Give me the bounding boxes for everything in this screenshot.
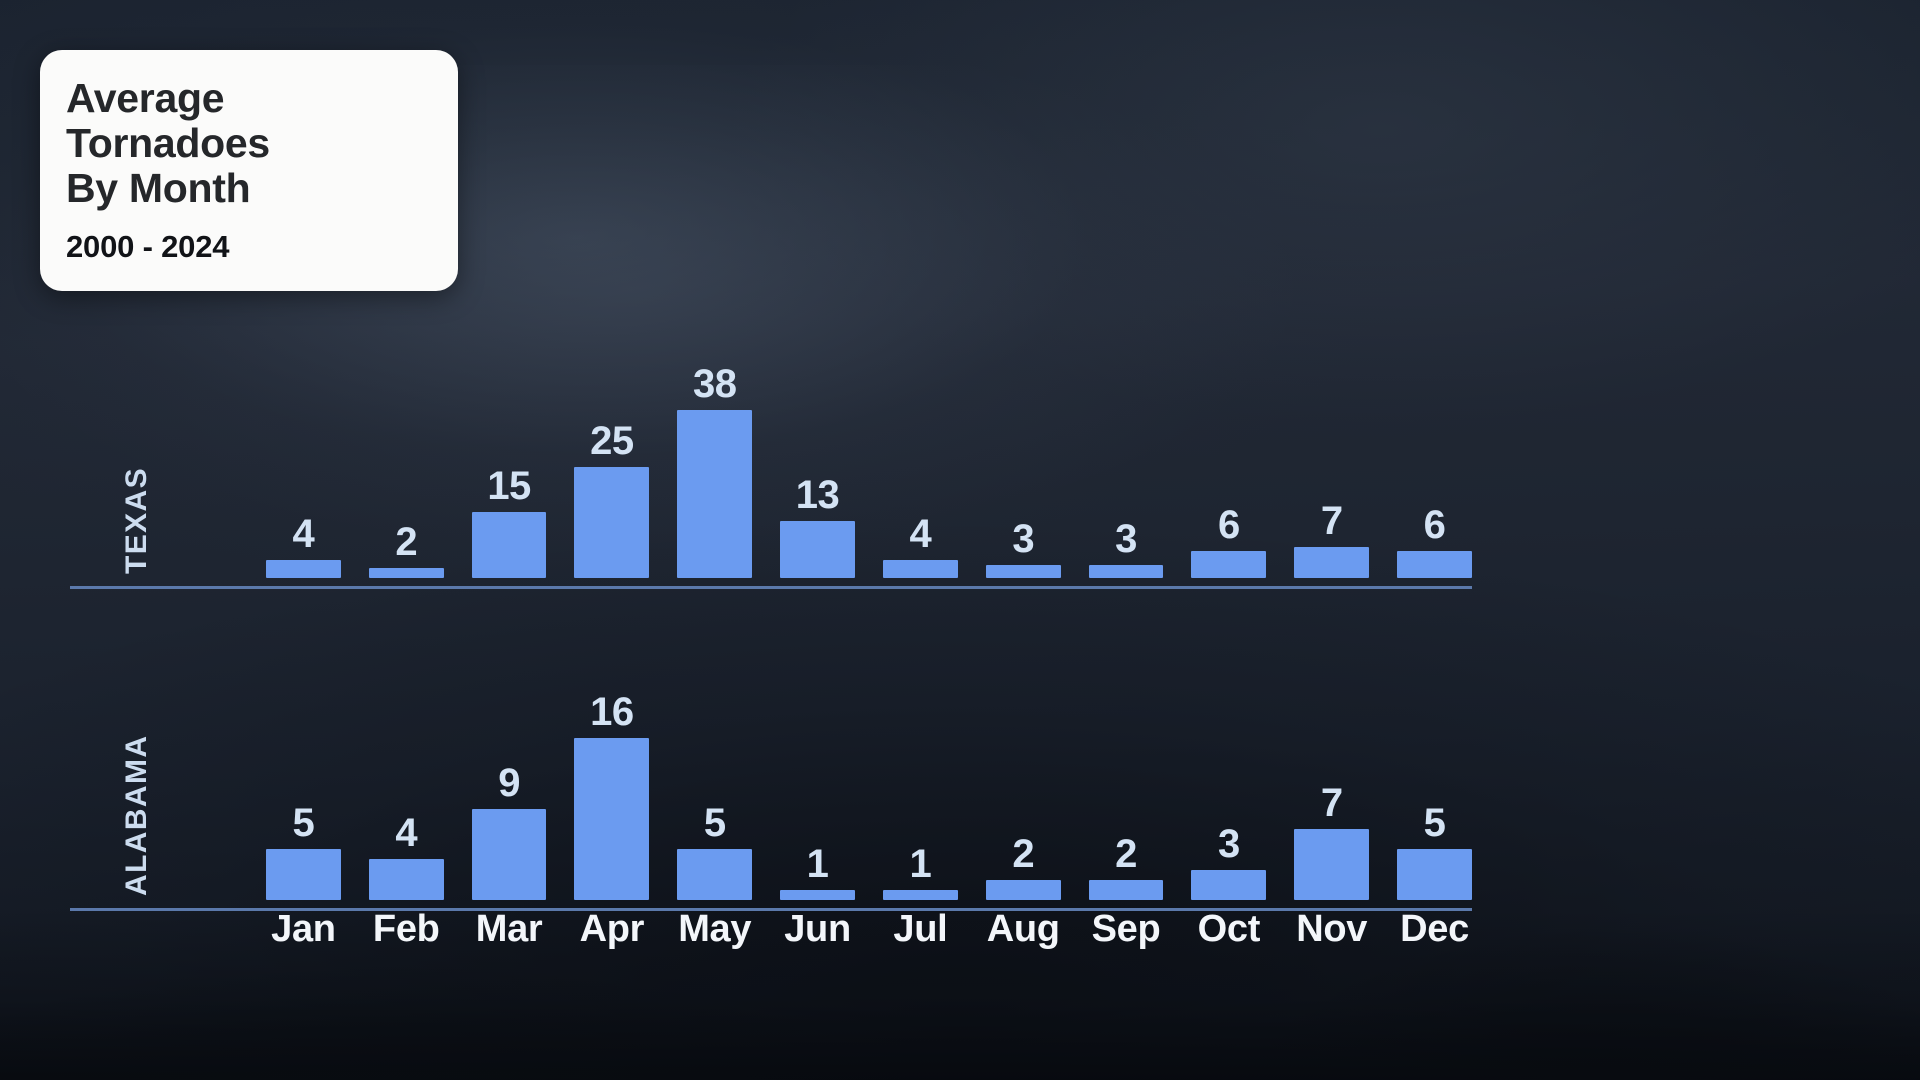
bar-rect [677,849,752,900]
bar-value-label: 5 [677,803,752,843]
bar-rect [883,560,958,578]
bar-feb-alabama[interactable]: 4 [369,598,444,900]
bar-rect [1294,547,1369,578]
month-label-feb: Feb [369,908,444,951]
bar-value-label: 3 [986,519,1061,559]
month-label-oct: Oct [1191,908,1266,951]
bar-rect [574,738,649,900]
bar-value-label: 5 [1397,803,1472,843]
bar-value-label: 15 [472,466,547,506]
bar-value-label: 38 [677,364,752,404]
bar-value-label: 13 [780,475,855,515]
bar-rect [369,859,444,900]
month-label-jun: Jun [780,908,855,951]
bar-mar-texas[interactable]: 15 [472,282,547,578]
bar-value-label: 2 [1089,834,1164,874]
bar-value-label: 5 [266,803,341,843]
bar-rect [1397,849,1472,900]
bar-rect [1089,565,1164,578]
bar-jun-alabama[interactable]: 1 [780,598,855,900]
bar-value-label: 4 [266,514,341,554]
page-title: Average Tornadoes By Month [66,76,428,211]
month-axis: JanFebMarAprMayJunJulAugSepOctNovDec [266,908,1472,951]
bar-rect [1191,870,1266,900]
bar-value-label: 2 [369,522,444,562]
bar-value-label: 3 [1089,519,1164,559]
bar-rect [1089,880,1164,900]
bar-value-label: 1 [780,844,855,884]
bar-dec-alabama[interactable]: 5 [1397,598,1472,900]
bar-dec-texas[interactable]: 6 [1397,282,1472,578]
month-label-nov: Nov [1294,908,1369,951]
month-label-jan: Jan [266,908,341,951]
bar-sep-alabama[interactable]: 2 [1089,598,1164,900]
bar-may-texas[interactable]: 38 [677,282,752,578]
month-label-sep: Sep [1089,908,1164,951]
bar-rect [472,512,547,578]
bar-value-label: 6 [1191,505,1266,545]
bar-oct-alabama[interactable]: 3 [1191,598,1266,900]
bar-jul-texas[interactable]: 4 [883,282,958,578]
title-subtitle: 2000 - 2024 [66,229,428,265]
bar-rect [883,890,958,900]
bar-value-label: 25 [574,421,649,461]
bar-rect [472,809,547,900]
bar-value-label: 7 [1294,501,1369,541]
bar-rect [986,880,1061,900]
bar-mar-alabama[interactable]: 9 [472,598,547,900]
bar-oct-texas[interactable]: 6 [1191,282,1266,578]
bar-jul-alabama[interactable]: 1 [883,598,958,900]
bars-texas: 4215253813433676 [266,282,1472,578]
bar-rect [1397,551,1472,578]
bar-aug-alabama[interactable]: 2 [986,598,1061,900]
bar-rect [1294,829,1369,900]
row-label-texas: TEXAS [120,467,154,574]
bar-apr-texas[interactable]: 25 [574,282,649,578]
bar-rect [266,560,341,578]
bar-value-label: 4 [883,514,958,554]
bar-rect [1191,551,1266,578]
bar-value-label: 2 [986,834,1061,874]
bar-rect [574,467,649,578]
bar-nov-alabama[interactable]: 7 [1294,598,1369,900]
bar-jan-alabama[interactable]: 5 [266,598,341,900]
month-label-may: May [677,908,752,951]
bar-nov-texas[interactable]: 7 [1294,282,1369,578]
bar-feb-texas[interactable]: 2 [369,282,444,578]
chart-row-texas: TEXAS 4215253813433676 [168,282,1472,578]
bar-rect [986,565,1061,578]
bar-may-alabama[interactable]: 5 [677,598,752,900]
bar-rect [677,410,752,578]
bar-rect [780,521,855,578]
bar-value-label: 4 [369,813,444,853]
bar-jun-texas[interactable]: 13 [780,282,855,578]
bars-alabama: 5491651122375 [266,598,1472,900]
row-label-alabama: ALABAMA [120,735,154,896]
month-label-mar: Mar [472,908,547,951]
bar-value-label: 1 [883,844,958,884]
title-card: Average Tornadoes By Month 2000 - 2024 [40,50,458,291]
month-label-jul: Jul [883,908,958,951]
month-label-dec: Dec [1397,908,1472,951]
bar-rect [266,849,341,900]
axis-line-texas [70,586,1472,589]
bar-sep-texas[interactable]: 3 [1089,282,1164,578]
bar-jan-texas[interactable]: 4 [266,282,341,578]
bar-value-label: 3 [1191,824,1266,864]
bar-value-label: 6 [1397,505,1472,545]
bar-value-label: 16 [574,692,649,732]
bar-rect [780,890,855,900]
month-label-apr: Apr [574,908,649,951]
month-label-aug: Aug [986,908,1061,951]
bar-apr-alabama[interactable]: 16 [574,598,649,900]
chart-row-alabama: ALABAMA 5491651122375 [168,598,1472,900]
bar-rect [369,568,444,578]
bar-aug-texas[interactable]: 3 [986,282,1061,578]
bar-value-label: 7 [1294,783,1369,823]
bar-value-label: 9 [472,763,547,803]
